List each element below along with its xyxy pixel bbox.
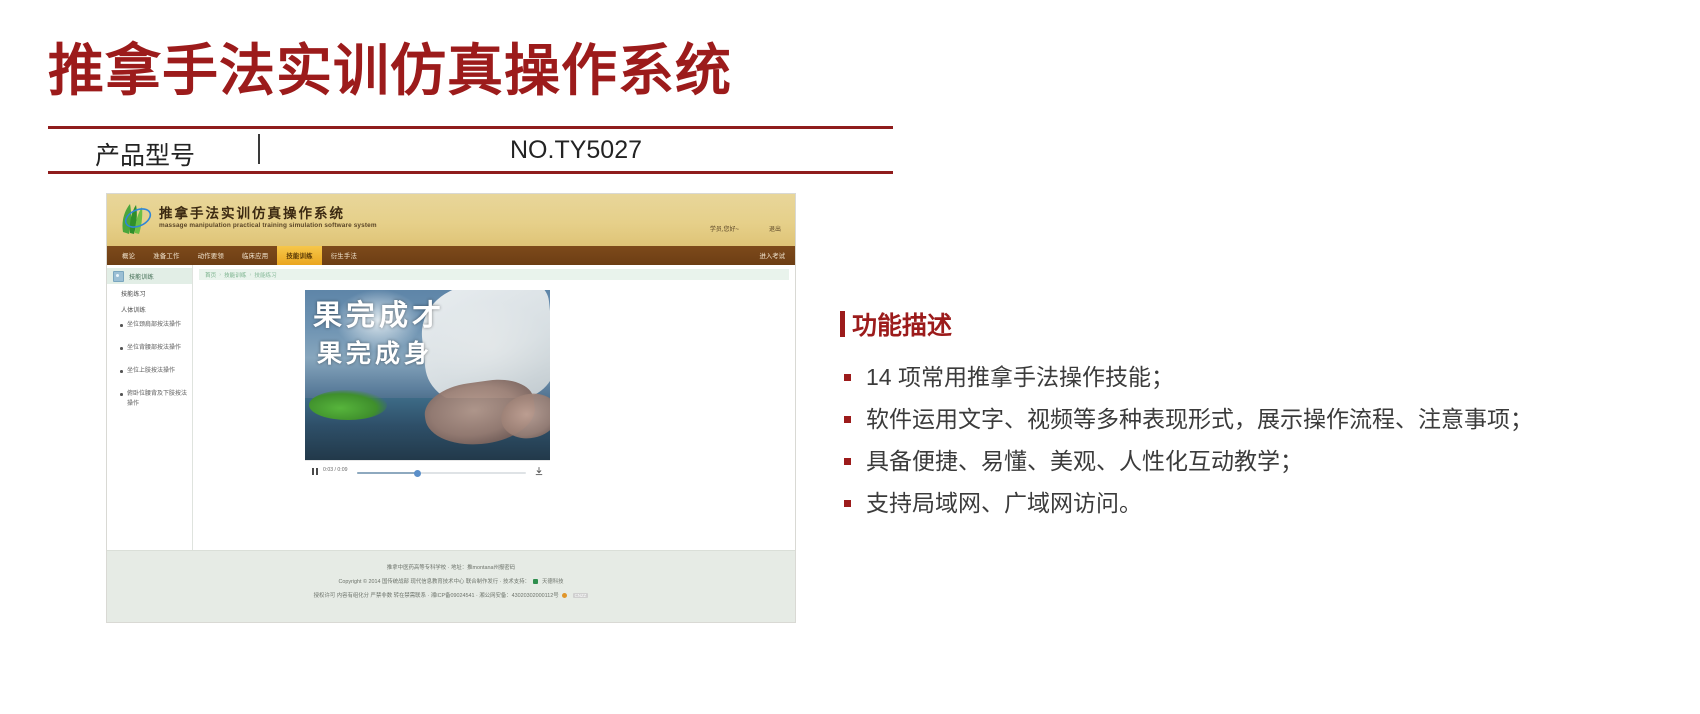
video-overlay-text-1: 果完成才 xyxy=(313,292,445,334)
sidebar-item-jineng-lianxi[interactable]: 技能练习 xyxy=(121,289,146,298)
video-time-display: 0:03 / 0:09 xyxy=(323,467,348,473)
video-frame: 果完成才 果完成身 xyxy=(305,290,550,460)
sidebar-subitem-2-label: 坐位背腰部按法操作 xyxy=(127,345,181,351)
bullet-square-icon xyxy=(844,416,851,423)
breadcrumb-current: 技能练习 xyxy=(254,271,276,279)
bullet-icon xyxy=(120,370,123,373)
feature-item-2: 软件运用文字、视频等多种表现形式，展示操作流程、注意事项； xyxy=(840,398,1540,440)
breadcrumb-level-2[interactable]: 技能训练 xyxy=(224,271,246,279)
breadcrumb-home[interactable]: 首页 xyxy=(205,271,216,279)
video-green-foliage xyxy=(309,390,387,420)
bullet-icon xyxy=(120,324,123,327)
page-title: 推拿手法实训仿真操作系统 xyxy=(48,26,732,107)
video-player[interactable]: 果完成才 果完成身 0:03 / 0:09 xyxy=(305,290,550,482)
footer-line-2-text: Copyright © 2014 国传统战部 现代信息教育技术中心 联合制作发行… xyxy=(338,579,529,585)
app-navbar: 概论 准备工作 动作要领 临床应用 技能训练 衍生手法 进入考试 xyxy=(107,246,795,265)
footer-line-3: 授权许可 内容有组化分 严禁非数 转在禁需联系 · 湘ICP备09024541 … xyxy=(107,591,795,599)
video-progress-track[interactable] xyxy=(357,472,526,474)
model-value: NO.TY5027 xyxy=(510,136,642,165)
feature-item-3-label: 具备便捷、易懂、美观、人性化互动教学； xyxy=(866,448,1303,474)
bullet-square-icon xyxy=(844,500,851,507)
model-rule-bottom xyxy=(48,171,893,174)
app-brand-cn: 推拿手法实训仿真操作系统 xyxy=(159,202,345,222)
header-user-label: 学员,您好~ xyxy=(710,224,739,233)
feature-item-3: 具备便捷、易懂、美观、人性化互动教学； xyxy=(840,440,1540,482)
bullet-icon xyxy=(120,347,123,350)
breadcrumb-separator-icon: › xyxy=(249,272,251,278)
model-divider xyxy=(258,134,260,164)
feature-item-2-label: 软件运用文字、视频等多种表现形式，展示操作流程、注意事项； xyxy=(866,406,1533,432)
model-label: 产品型号 xyxy=(95,136,195,172)
police-badge-icon xyxy=(562,593,567,598)
nav-item-gailun[interactable]: 概论 xyxy=(113,246,144,265)
video-progress-fill xyxy=(357,472,418,474)
feature-item-1-label: 14 项常用推拿手法操作技能； xyxy=(866,364,1174,390)
feature-list: 14 项常用推拿手法操作技能； 软件运用文字、视频等多种表现形式，展示操作流程、… xyxy=(840,356,1540,524)
camera-icon xyxy=(113,271,124,282)
app-footer: 推拿中医药高等专科学校 · 地址：推montana州报密码 Copyright … xyxy=(107,550,795,622)
feature-item-4-label: 支持局域网、广域网访问。 xyxy=(866,490,1142,516)
app-screenshot: 推拿手法实训仿真操作系统 massage manipulation practi… xyxy=(106,193,796,623)
content-area: 首页 › 技能训练 › 技能练习 果完成才 果完成身 xyxy=(193,265,795,550)
sidebar-subitem-4-label: 俯卧位腰背及下肢按法操作 xyxy=(127,391,187,407)
feature-item-1: 14 项常用推拿手法操作技能； xyxy=(840,356,1540,398)
nav-item-zhunbei[interactable]: 准备工作 xyxy=(144,246,188,265)
app-brand-en: massage manipulation practical training … xyxy=(159,222,377,229)
nav-item-yansheng[interactable]: 衍生手法 xyxy=(322,246,366,265)
sidebar-subitem-2[interactable]: 坐位背腰部按法操作 xyxy=(127,344,187,354)
app-header: 推拿手法实训仿真操作系统 massage manipulation practi… xyxy=(107,194,795,246)
feature-panel: 功能描述 14 项常用推拿手法操作技能； 软件运用文字、视频等多种表现形式，展示… xyxy=(840,306,1540,524)
feature-title: 功能描述 xyxy=(852,306,952,342)
video-overlay-text-2: 果完成身 xyxy=(317,334,433,370)
app-body: 技能训练 技能练习 人体训练 坐位颈肩部按法操作 坐位背腰部按法操作 坐位上肢按… xyxy=(107,265,795,550)
model-rule-top xyxy=(48,126,893,129)
sidebar-subitem-3-label: 坐位上肢按法操作 xyxy=(127,368,175,374)
sidebar-subitem-3[interactable]: 坐位上肢按法操作 xyxy=(127,367,187,377)
app-logo-icon xyxy=(119,202,153,238)
footer-line-2: Copyright © 2014 国传统战部 现代信息教育技术中心 联合制作发行… xyxy=(107,577,795,585)
sidebar-subitem-1-label: 坐位颈肩部按法操作 xyxy=(127,322,181,328)
sidebar-subitem-1[interactable]: 坐位颈肩部按法操作 xyxy=(127,321,187,331)
footer-partner-name: 天德科技 xyxy=(542,579,564,585)
bullet-icon xyxy=(120,393,123,396)
video-controls: 0:03 / 0:09 xyxy=(305,460,550,482)
partner-logo-icon xyxy=(533,579,538,584)
breadcrumb-separator-icon: › xyxy=(219,272,221,278)
enter-exam-button[interactable]: 进入考试 xyxy=(759,246,785,265)
bullet-square-icon xyxy=(844,458,851,465)
sidebar-subitem-4[interactable]: 俯卧位腰背及下肢按法操作 xyxy=(127,390,187,409)
footer-chip: CNZZ xyxy=(573,593,589,598)
pause-icon[interactable] xyxy=(312,468,318,475)
feature-accent-bar xyxy=(840,311,845,337)
nav-item-dongzuo[interactable]: 动作要领 xyxy=(189,246,233,265)
nav-item-linchuang[interactable]: 临床应用 xyxy=(233,246,277,265)
sidebar: 技能训练 技能练习 人体训练 坐位颈肩部按法操作 坐位背腰部按法操作 坐位上肢按… xyxy=(107,265,193,550)
breadcrumb: 首页 › 技能训练 › 技能练习 xyxy=(199,269,789,280)
download-icon[interactable] xyxy=(535,467,543,476)
sidebar-item-renti-xunlian[interactable]: 人体训练 xyxy=(121,305,146,314)
sidebar-header: 技能训练 xyxy=(107,268,192,284)
video-progress-knob[interactable] xyxy=(414,470,421,477)
nav-item-jineng[interactable]: 技能训练 xyxy=(277,246,321,265)
footer-line-3-text: 授权许可 内容有组化分 严禁非数 转在禁需联系 · 湘ICP备09024541 … xyxy=(314,593,559,599)
nav-item-list: 概论 准备工作 动作要领 临床应用 技能训练 衍生手法 xyxy=(113,246,366,265)
logout-button[interactable]: 退出 xyxy=(769,224,781,233)
footer-line-1: 推拿中医药高等专科学校 · 地址：推montana州报密码 xyxy=(107,563,795,571)
sidebar-header-label: 技能训练 xyxy=(129,272,154,281)
feature-item-4: 支持局域网、广域网访问。 xyxy=(840,482,1540,524)
bullet-square-icon xyxy=(844,374,851,381)
feature-title-row: 功能描述 xyxy=(840,306,1540,342)
